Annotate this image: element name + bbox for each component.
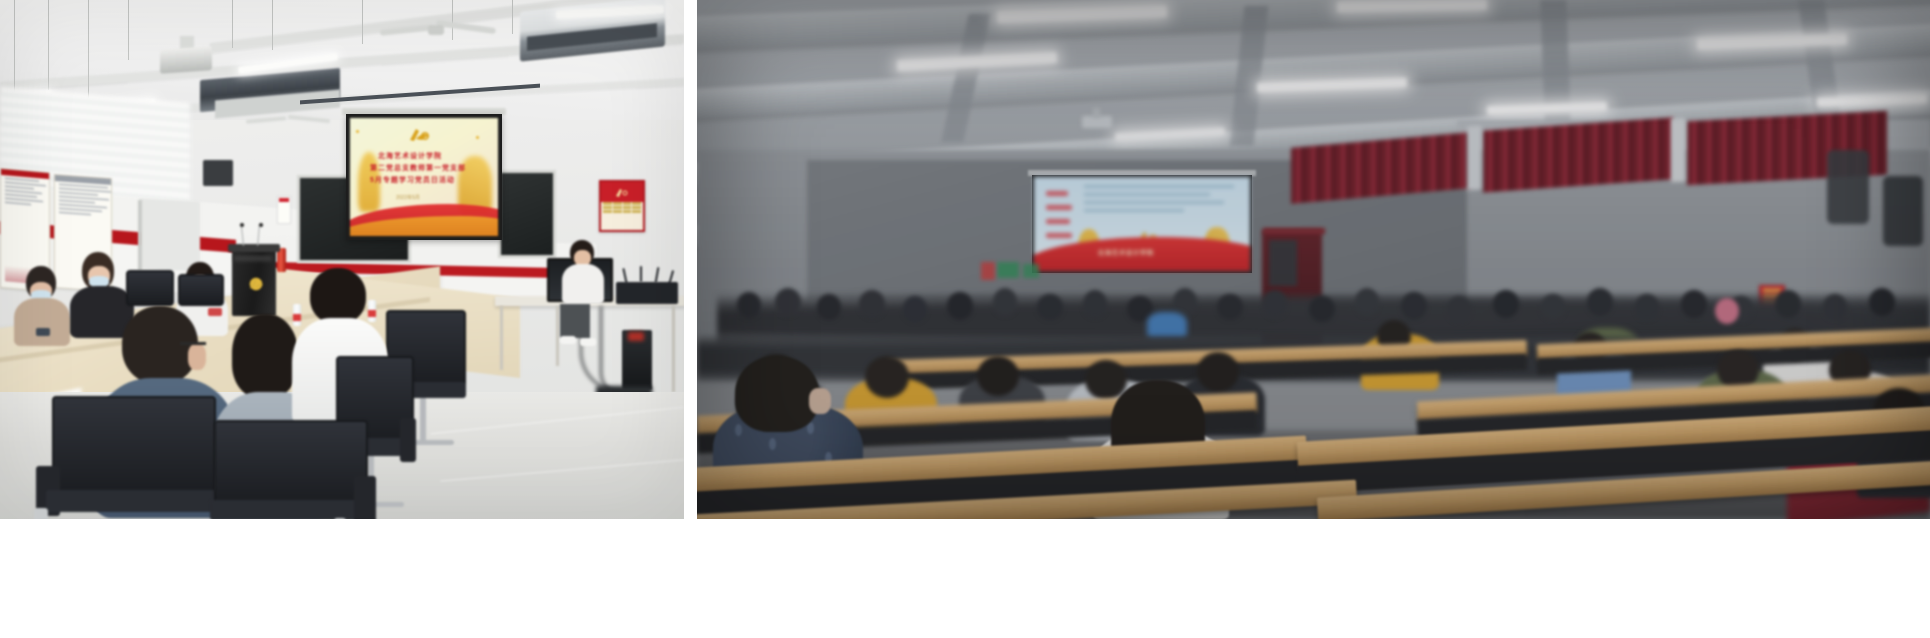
door-frame [1263, 228, 1325, 234]
student-head [817, 294, 841, 320]
room-door[interactable] [140, 198, 200, 271]
projection-screen-right: 北海艺术设计学院 [1032, 175, 1252, 273]
green-notice-card [997, 262, 1019, 278]
red-notice-card [981, 262, 995, 280]
slide-bullet [1046, 233, 1072, 238]
mobile-phone [36, 328, 50, 336]
blackboard-panel-right [498, 170, 556, 258]
operator-legs [560, 304, 590, 338]
student-head [1823, 294, 1847, 320]
slide-bullet [1046, 205, 1072, 210]
student-head [1309, 296, 1335, 322]
ceiling-rod [512, 0, 513, 34]
dark-red-curtain [1483, 117, 1673, 192]
cpc-emblem-icon [406, 126, 432, 144]
slide-line-1: 北海艺术设计学院 [378, 151, 442, 161]
cpc-emblem-icon [614, 185, 630, 196]
student-head [1263, 290, 1287, 318]
student-head [1447, 296, 1471, 322]
desk-leg [556, 306, 559, 366]
student-head [1681, 290, 1707, 318]
student-head [1355, 288, 1379, 316]
slide-subtitle: 2022年5月 [396, 194, 420, 201]
ceiling-projector [160, 46, 212, 74]
projected-slide-left: 北海艺术设计学院 第二党总支教师第一党支部 5月专题学习党员日活动 2022年5… [350, 118, 498, 236]
wall-speaker [203, 160, 233, 186]
ceiling-fan [246, 114, 330, 126]
student-head [1217, 294, 1243, 320]
projected-slide-right: 北海艺术设计学院 [1034, 177, 1250, 271]
student-pink-cap [1715, 298, 1739, 324]
student-head [1635, 294, 1659, 320]
water-bottle [293, 304, 301, 326]
operator-shoe [560, 336, 576, 344]
photo-left-seminar-room: 北海艺术设计学院 第二党总支教师第一党支部 5月专题学习党员日活动 2022年5… [0, 0, 684, 519]
lecture-chair-back[interactable] [1827, 150, 1869, 224]
student-head [1083, 290, 1107, 318]
student-face [809, 388, 831, 414]
small-white-sign [277, 196, 291, 224]
student-head [993, 288, 1017, 316]
figure-root: 北海艺术设计学院 第二党总支教师第一党支部 5月专题学习党员日活动 2022年5… [0, 0, 1930, 638]
power-strip [628, 332, 644, 341]
ceiling-rod [14, 0, 15, 96]
slide-bullet [1046, 191, 1068, 196]
red-honor-plaque [599, 180, 645, 232]
ceiling-rod [88, 0, 89, 98]
student-head [1493, 290, 1519, 318]
ceiling-rod [128, 0, 129, 60]
lectern-cpc-emblem [248, 276, 264, 292]
lectern-nameplate [234, 256, 272, 261]
water-bottle [368, 300, 376, 322]
student-head [775, 288, 801, 316]
lecture-chair-back[interactable] [1883, 176, 1923, 246]
student-head [947, 292, 973, 320]
microphone-head [240, 223, 244, 227]
desk-leg [672, 306, 675, 392]
student-head [977, 356, 1019, 396]
student-head [1401, 292, 1427, 320]
ceiling-rod [232, 0, 233, 48]
green-notice-card [1023, 264, 1039, 278]
student-head [865, 356, 909, 398]
slide-line-3: 5月专题学习党员日活动 [370, 175, 455, 185]
desk-leg [500, 306, 503, 370]
student-head [1587, 288, 1613, 316]
slide-line-1: 北海艺术设计学院 [1098, 248, 1154, 257]
ceiling-fan [380, 22, 500, 38]
ceiling-rod [48, 0, 49, 90]
operator-shoe [580, 338, 596, 346]
student-head [735, 356, 819, 432]
student-head [859, 290, 885, 318]
student-head [1197, 352, 1239, 392]
door-jamb [138, 200, 142, 270]
photo-right-lecture-hall: 北海艺术设计学院 [697, 0, 1930, 519]
slide-bullet [1046, 219, 1070, 224]
projection-screen-left: 北海艺术设计学院 第二党总支教师第一党支部 5月专题学习党员日活动 2022年5… [346, 114, 502, 240]
student-head [1775, 290, 1801, 318]
ceiling-rod [362, 0, 363, 44]
slide-line-2: 第二党总支教师第一党支部 [370, 163, 466, 173]
router-antenna [640, 266, 642, 282]
student-head [1869, 288, 1895, 316]
ceiling-rod [272, 0, 273, 50]
student-head [737, 292, 761, 318]
student-head [1541, 294, 1565, 320]
door-window [1269, 240, 1297, 286]
projector-mount [1093, 108, 1100, 118]
student-head [903, 296, 927, 322]
lectern-top [228, 244, 280, 252]
student-head [1037, 294, 1063, 320]
wall-pillar [1671, 118, 1685, 183]
microphone-head [259, 223, 263, 227]
wall-pillar [1467, 126, 1481, 191]
